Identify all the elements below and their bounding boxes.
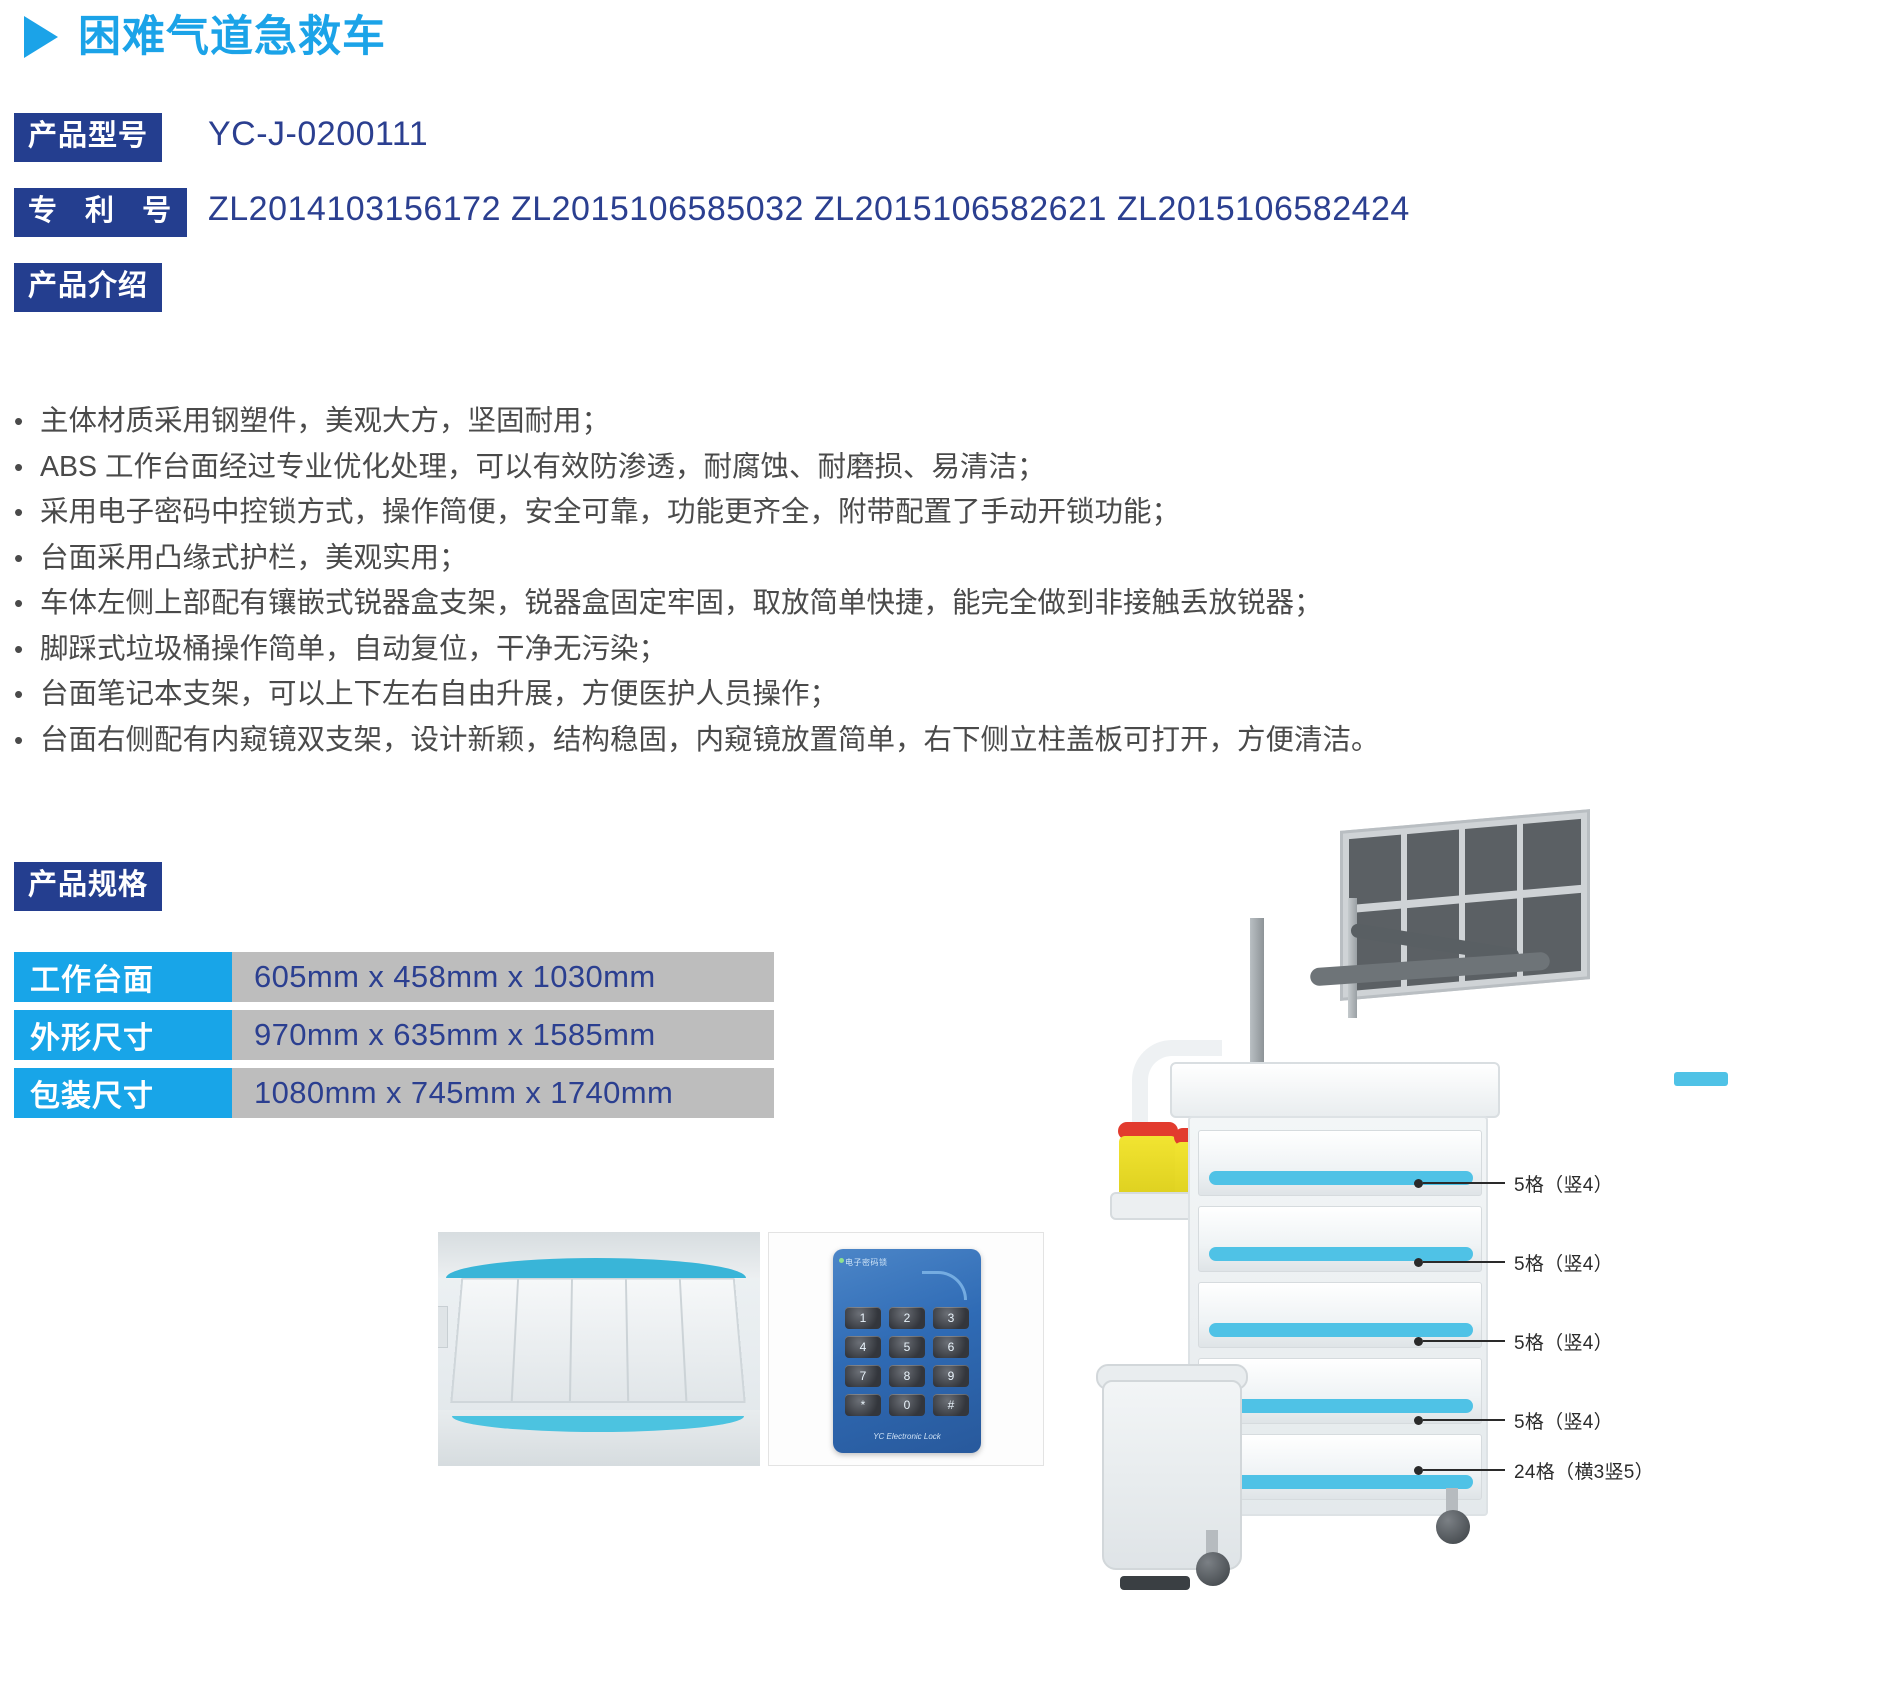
list-item: •主体材质采用钢塑件，美观大方，坚固耐用； xyxy=(14,406,1654,436)
list-item: •台面采用凸缘式护栏，美观实用； xyxy=(14,543,1654,573)
drawer-tray xyxy=(450,1278,746,1403)
callout-dot-icon xyxy=(1414,1416,1423,1425)
callout-drawer-2: 5格（竖4） xyxy=(1414,1252,1613,1272)
shelf-support-pole xyxy=(1348,898,1357,1018)
drawer-divider xyxy=(511,1280,519,1401)
label-product-model: 产品型号 xyxy=(14,113,162,162)
drawer-divider xyxy=(569,1280,573,1401)
bullet-dot-icon: • xyxy=(14,634,40,664)
specs-table: 工作台面 605mm x 458mm x 1030mm 外形尺寸 970mm x… xyxy=(14,952,774,1126)
callout-dot-icon xyxy=(1414,1258,1423,1267)
keypad-key-9[interactable]: 9 xyxy=(933,1365,969,1387)
spec-value: 1080mm x 745mm x 1740mm xyxy=(232,1068,774,1118)
bullet-dot-icon: • xyxy=(14,543,40,573)
list-item: •脚踩式垃圾桶操作简单，自动复位，干净无污染； xyxy=(14,634,1654,664)
shelf-cell xyxy=(1349,835,1401,906)
list-item-text: 采用电子密码中控锁方式，操作简便，安全可靠，功能更齐全，附带配置了手动开锁功能； xyxy=(40,497,1180,527)
foot-pedal[interactable] xyxy=(1120,1576,1190,1590)
callout-dot-icon xyxy=(1414,1179,1423,1188)
shelf-cell xyxy=(1523,819,1581,890)
keypad-photo: 电子密码锁 1 2 3 4 5 6 7 8 9 * 0 # YC Electro… xyxy=(768,1232,1044,1466)
list-item-text: 主体材质采用钢塑件，美观大方，坚固耐用； xyxy=(40,406,610,436)
callout-leader-line xyxy=(1423,1340,1505,1342)
callout-label: 5格（竖4） xyxy=(1514,1407,1613,1434)
keypad-footer-label: YC Electronic Lock xyxy=(833,1432,981,1441)
keypad-key-8[interactable]: 8 xyxy=(889,1365,925,1387)
play-triangle-icon xyxy=(24,16,58,58)
callout-drawer-4: 5格（竖4） xyxy=(1414,1410,1613,1430)
shelf-cell xyxy=(1407,830,1459,901)
drawer-side-tab xyxy=(438,1306,448,1348)
spec-key: 工作台面 xyxy=(14,952,232,1002)
callout-label: 24格（横3竖5） xyxy=(1514,1457,1654,1484)
table-row: 包装尺寸 1080mm x 745mm x 1740mm xyxy=(14,1068,774,1118)
caster-wheel xyxy=(1196,1552,1230,1586)
keypad-key-6[interactable]: 6 xyxy=(933,1336,969,1358)
spec-value: 605mm x 458mm x 1030mm xyxy=(232,952,774,1002)
callout-leader-line xyxy=(1423,1182,1505,1184)
bullet-dot-icon: • xyxy=(14,679,40,709)
bullet-dot-icon: • xyxy=(14,725,40,755)
page-title: 困难气道急救车 xyxy=(24,12,386,62)
keypad-key-4[interactable]: 4 xyxy=(845,1336,881,1358)
callout-label: 5格（竖4） xyxy=(1514,1328,1613,1355)
rfid-wave-icon xyxy=(922,1271,967,1300)
drawer-divider xyxy=(679,1280,687,1401)
list-item-text: ABS 工作台面经过专业优化处理，可以有效防渗透，耐腐蚀、耐磨损、易清洁； xyxy=(40,452,1045,482)
page-title-text: 困难气道急救车 xyxy=(78,12,386,62)
keypad-key-3[interactable]: 3 xyxy=(933,1307,969,1329)
list-item-text: 台面采用凸缘式护栏，美观实用； xyxy=(40,543,468,573)
list-item: •车体左侧上部配有镶嵌式锐器盒支架，锐器盒固定牢固，取放简单快捷，能完全做到非接… xyxy=(14,588,1654,618)
list-item: •台面笔记本支架，可以上下左右自由升展，方便医护人员操作； xyxy=(14,679,1654,709)
list-item: •ABS 工作台面经过专业优化处理，可以有效防渗透，耐腐蚀、耐磨损、易清洁； xyxy=(14,452,1654,482)
keypad-key-7[interactable]: 7 xyxy=(845,1365,881,1387)
callout-drawer-5: 24格（横3竖5） xyxy=(1414,1460,1654,1480)
table-row: 外形尺寸 970mm x 635mm x 1585mm xyxy=(14,1010,774,1060)
bullet-dot-icon: • xyxy=(14,497,40,527)
keypad-key-star[interactable]: * xyxy=(845,1394,881,1416)
list-item-text: 台面笔记本支架，可以上下左右自由升展，方便医护人员操作； xyxy=(40,679,838,709)
value-product-model: YC-J-0200111 xyxy=(208,117,428,151)
caster-wheel xyxy=(1436,1510,1470,1544)
callout-leader-line xyxy=(1423,1419,1505,1421)
keypad-keys: 1 2 3 4 5 6 7 8 9 * 0 # xyxy=(845,1307,969,1416)
waste-bin xyxy=(1102,1380,1242,1570)
callout-label: 5格（竖4） xyxy=(1514,1249,1613,1276)
keypad-brand-label: 电子密码锁 xyxy=(845,1257,888,1268)
spec-key: 包装尺寸 xyxy=(14,1068,232,1118)
worktop-accent-trim xyxy=(1674,1072,1728,1086)
intro-bullet-list: •主体材质采用钢塑件，美观大方，坚固耐用； •ABS 工作台面经过专业优化处理，… xyxy=(14,406,1654,770)
callout-dot-icon xyxy=(1414,1337,1423,1346)
spec-value: 970mm x 635mm x 1585mm xyxy=(232,1010,774,1060)
bullet-dot-icon: • xyxy=(14,588,40,618)
list-item: •采用电子密码中控锁方式，操作简便，安全可靠，功能更齐全，附带配置了手动开锁功能… xyxy=(14,497,1654,527)
callout-drawer-1: 5格（竖4） xyxy=(1414,1173,1613,1193)
drawer-divider xyxy=(625,1280,629,1401)
sharps-cup xyxy=(1119,1136,1177,1198)
keypad-panel: 电子密码锁 1 2 3 4 5 6 7 8 9 * 0 # YC Electro… xyxy=(833,1249,981,1453)
list-item-text: 台面右侧配有内窥镜双支架，设计新颖，结构稳固，内窥镜放置简单，右下侧立柱盖板可打… xyxy=(40,725,1380,755)
callout-label: 5格（竖4） xyxy=(1514,1170,1613,1197)
list-item: •台面右侧配有内窥镜双支架，设计新颖，结构稳固，内窥镜放置简单，右下侧立柱盖板可… xyxy=(14,725,1654,755)
drawer-photo xyxy=(438,1232,760,1466)
callout-drawer-3: 5格（竖4） xyxy=(1414,1331,1613,1351)
value-patent-number: ZL2014103156172 ZL2015106585032 ZL201510… xyxy=(208,192,1410,226)
section-heading-intro: 产品介绍 xyxy=(14,263,162,312)
keypad-key-2[interactable]: 2 xyxy=(889,1307,925,1329)
keypad-key-1[interactable]: 1 xyxy=(845,1307,881,1329)
list-item-text: 车体左侧上部配有镶嵌式锐器盒支架，锐器盒固定牢固，取放简单快捷，能完全做到非接触… xyxy=(40,588,1323,618)
table-row: 工作台面 605mm x 458mm x 1030mm xyxy=(14,952,774,1002)
callout-leader-line xyxy=(1423,1261,1505,1263)
label-patent-number: 专 利 号 xyxy=(14,188,187,237)
callout-leader-line xyxy=(1423,1469,1505,1471)
section-heading-specs: 产品规格 xyxy=(14,862,162,911)
keypad-key-5[interactable]: 5 xyxy=(889,1336,925,1358)
bullet-dot-icon: • xyxy=(14,406,40,436)
keypad-key-hash[interactable]: # xyxy=(933,1394,969,1416)
list-item-text: 脚踩式垃圾桶操作简单，自动复位，干净无污染； xyxy=(40,634,667,664)
product-catalog-page: 困难气道急救车 产品型号 YC-J-0200111 专 利 号 ZL201410… xyxy=(0,0,1892,1700)
spec-key: 外形尺寸 xyxy=(14,1010,232,1060)
keypad-key-0[interactable]: 0 xyxy=(889,1394,925,1416)
bullet-dot-icon: • xyxy=(14,452,40,482)
status-led-icon xyxy=(839,1258,844,1263)
shelf-cell xyxy=(1465,824,1517,895)
callout-dot-icon xyxy=(1414,1466,1423,1475)
